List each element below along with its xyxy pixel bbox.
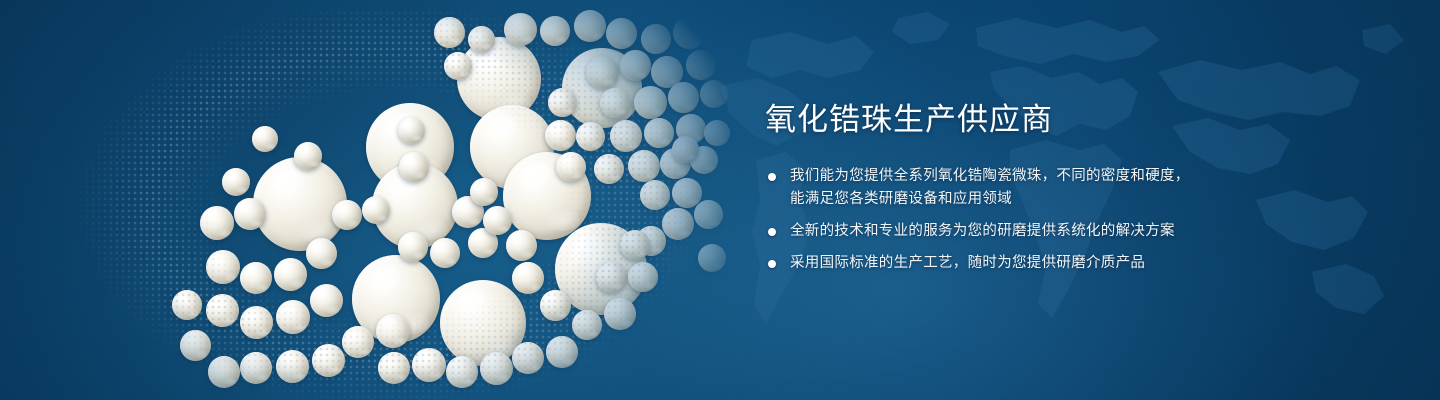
page-title: 氧化锆珠生产供应商 xyxy=(765,104,1305,135)
feature-bullet-line: 能满足您各类研磨设备和应用领域 xyxy=(790,188,1305,211)
feature-bullet-line: 我们能为您提供全系列氧化锆陶瓷微珠，不同的密度和硬度， xyxy=(790,165,1305,188)
feature-bullet-line: 采用国际标准的生产工艺，随时为您提供研磨介质产品 xyxy=(790,252,1305,275)
feature-bullet-item: 我们能为您提供全系列氧化锆陶瓷微珠，不同的密度和硬度，能满足您各类研磨设备和应用… xyxy=(765,165,1305,211)
feature-bullet-list: 我们能为您提供全系列氧化锆陶瓷微珠，不同的密度和硬度，能满足您各类研磨设备和应用… xyxy=(765,165,1305,275)
bullet-dot-icon xyxy=(768,173,776,181)
feature-bullet-item: 全新的技术和专业的服务为您的研磨提供系统化的解决方案 xyxy=(765,220,1305,243)
banner-copy: 氧化锆珠生产供应商 我们能为您提供全系列氧化锆陶瓷微珠，不同的密度和硬度，能满足… xyxy=(765,104,1305,275)
feature-bullet-line: 全新的技术和专业的服务为您的研磨提供系统化的解决方案 xyxy=(790,220,1305,243)
feature-bullet-item: 采用国际标准的生产工艺，随时为您提供研磨介质产品 xyxy=(765,252,1305,275)
bullet-dot-icon xyxy=(768,228,776,236)
bullet-dot-icon xyxy=(768,260,776,268)
hero-banner: 氧化锆珠生产供应商 我们能为您提供全系列氧化锆陶瓷微珠，不同的密度和硬度，能满足… xyxy=(0,0,1440,400)
